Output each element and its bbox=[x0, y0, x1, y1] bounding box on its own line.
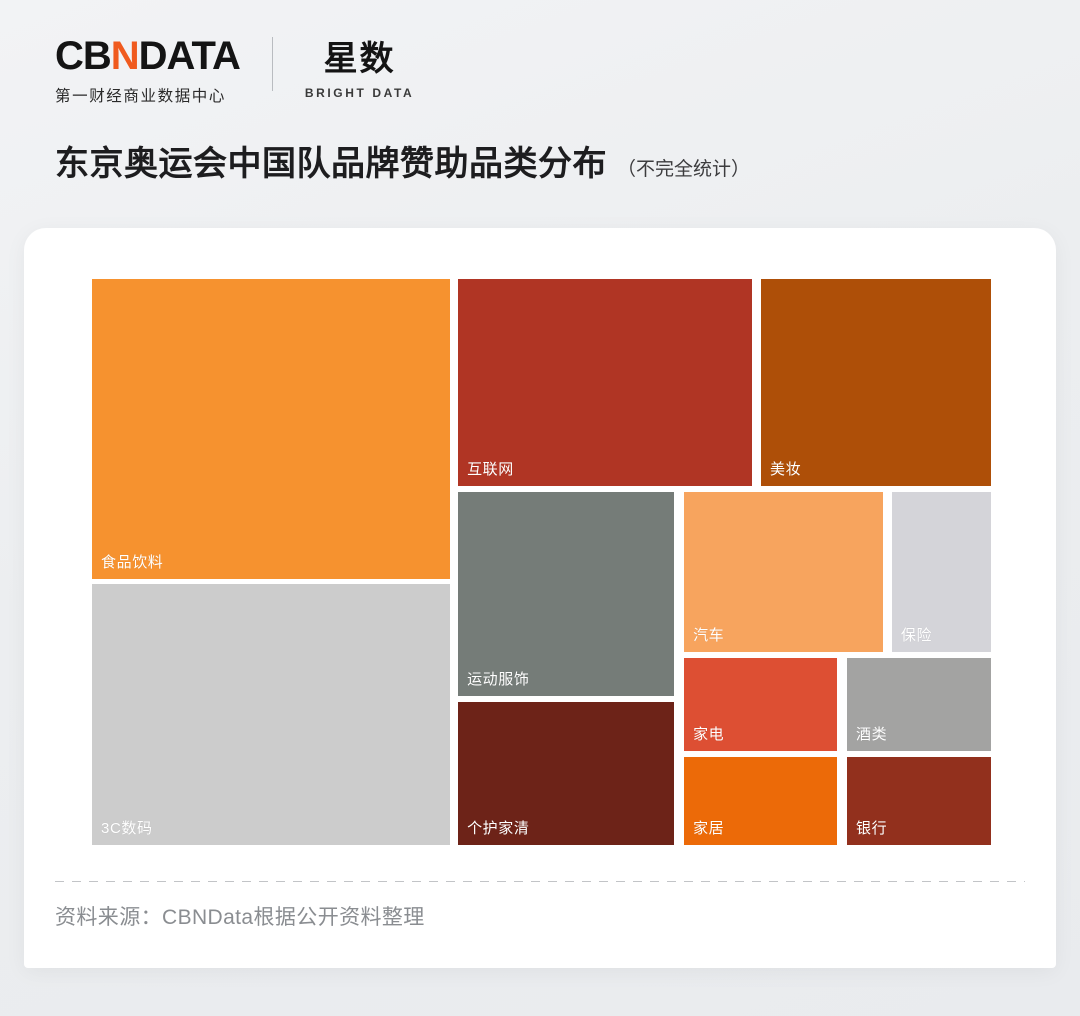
treemap-tile[interactable]: 运动服饰 bbox=[458, 492, 674, 696]
chart-title-note: （不完全统计） bbox=[617, 154, 750, 181]
treemap-tile-label: 运动服饰 bbox=[467, 668, 529, 689]
treemap-tile[interactable]: 个护家清 bbox=[458, 702, 674, 845]
treemap-tile[interactable]: 美妆 bbox=[761, 279, 991, 486]
logo-divider bbox=[272, 37, 273, 91]
treemap-tile-label: 食品饮料 bbox=[101, 551, 163, 572]
treemap-tile[interactable]: 3C数码 bbox=[92, 584, 450, 845]
logo-word-accent-n: N bbox=[111, 35, 139, 77]
treemap-chart: 食品饮料互联网美妆3C数码运动服饰个护家清汽车保险家电酒类家居银行 bbox=[92, 279, 991, 845]
partner-name-en: BRIGHT DATA bbox=[305, 86, 414, 100]
treemap-tile-label: 银行 bbox=[856, 817, 887, 838]
partner-name-cn: 星数 bbox=[324, 40, 396, 78]
treemap-tile[interactable]: 家居 bbox=[684, 757, 837, 845]
cbndata-subtitle: 第一财经商业数据中心 bbox=[55, 84, 240, 106]
chart-title: 东京奥运会中国队品牌赞助品类分布 bbox=[55, 136, 607, 185]
treemap-tile[interactable]: 保险 bbox=[892, 492, 991, 652]
treemap-tile[interactable]: 家电 bbox=[684, 658, 837, 751]
treemap-tile[interactable]: 汽车 bbox=[684, 492, 883, 652]
treemap-tile-label: 3C数码 bbox=[101, 817, 153, 838]
logo-word-part1: CB bbox=[55, 35, 111, 77]
treemap-tile[interactable]: 食品饮料 bbox=[92, 279, 450, 579]
treemap-tile-label: 酒类 bbox=[856, 723, 887, 744]
cbndata-wordmark: CBNDATA bbox=[55, 35, 240, 77]
treemap-tile-label: 保险 bbox=[901, 624, 932, 645]
partner-logo: 星数 BRIGHT DATA bbox=[305, 40, 414, 100]
treemap-tile-label: 汽车 bbox=[693, 624, 724, 645]
brand-logo-bar: CBNDATA 第一财经商业数据中心 星数 BRIGHT DATA bbox=[55, 34, 414, 106]
treemap-tile-label: 互联网 bbox=[467, 458, 514, 479]
treemap-tile-label: 个护家清 bbox=[467, 817, 529, 838]
source-note: 资料来源：CBNData根据公开资料整理 bbox=[55, 901, 425, 931]
treemap-tile-label: 家居 bbox=[693, 817, 724, 838]
treemap-tile-label: 美妆 bbox=[770, 458, 801, 479]
treemap-tile[interactable]: 酒类 bbox=[847, 658, 991, 751]
treemap-tile-label: 家电 bbox=[693, 723, 724, 744]
treemap-tile[interactable]: 互联网 bbox=[458, 279, 752, 486]
cbndata-logo: CBNDATA 第一财经商业数据中心 bbox=[55, 35, 240, 106]
treemap-tile[interactable]: 银行 bbox=[847, 757, 991, 845]
logo-word-part2: DATA bbox=[139, 35, 240, 77]
footer-divider bbox=[55, 881, 1025, 882]
page-title: 东京奥运会中国队品牌赞助品类分布 （不完全统计） bbox=[55, 136, 750, 185]
